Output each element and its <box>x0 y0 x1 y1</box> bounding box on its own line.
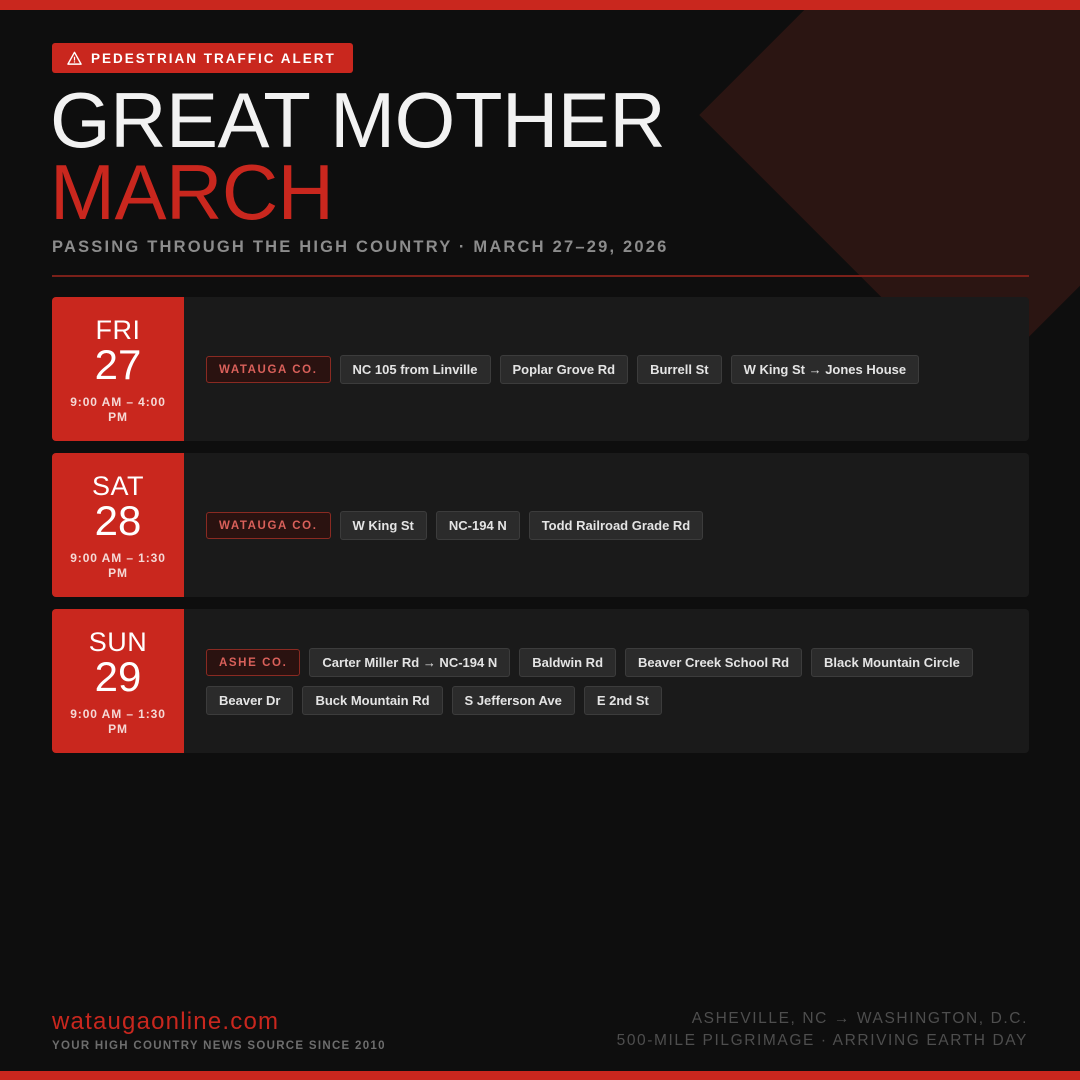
county-chip: ASHE CO. <box>206 649 300 676</box>
footer-route-line-1: ASHEVILLE, NC → WASHINGTON, D.C. <box>617 1008 1028 1030</box>
road-chip[interactable]: Buck Mountain Rd <box>302 686 442 715</box>
bottom-accent-bar <box>0 1071 1080 1080</box>
alert-badge: PEDESTRIAN TRAFFIC ALERT <box>52 43 353 73</box>
date-time-range: 9:00 AM – 1:30 PM <box>62 707 174 737</box>
road-chip[interactable]: W King St <box>340 511 427 540</box>
day-card: SUN299:00 AM – 1:30 PMASHE CO.Carter Mil… <box>52 609 1029 753</box>
road-chip[interactable]: NC-194 N <box>436 511 520 540</box>
date-cell: SAT289:00 AM – 1:30 PM <box>52 453 184 597</box>
county-chip: WATAUGA CO. <box>206 512 331 539</box>
road-chip[interactable]: Burrell St <box>637 355 722 384</box>
footer: wataugaonline.com YOUR HIGH COUNTRY NEWS… <box>52 1008 1028 1052</box>
header-divider <box>52 275 1029 277</box>
date-day-number: 29 <box>95 655 142 699</box>
road-chip[interactable]: Poplar Grove Rd <box>500 355 629 384</box>
footer-route-info: ASHEVILLE, NC → WASHINGTON, D.C. 500-MIL… <box>617 1008 1028 1052</box>
page-title-line-1: GREAT MOTHER <box>50 84 665 156</box>
date-time-range: 9:00 AM – 4:00 PM <box>62 395 174 425</box>
date-cell: SUN299:00 AM – 1:30 PM <box>52 609 184 753</box>
warning-triangle-icon <box>67 51 82 66</box>
page-title: GREAT MOTHER MARCH <box>50 84 665 228</box>
county-chip: WATAUGA CO. <box>206 356 331 383</box>
road-chip[interactable]: W King St → Jones House <box>731 355 920 384</box>
alert-badge-label: PEDESTRIAN TRAFFIC ALERT <box>91 51 336 66</box>
route-chip-list: WATAUGA CO.W King StNC-194 NTodd Railroa… <box>184 453 1029 597</box>
route-chip-list: WATAUGA CO.NC 105 from LinvillePoplar Gr… <box>184 297 1029 441</box>
road-chip[interactable]: Beaver Dr <box>206 686 293 715</box>
road-chip[interactable]: Black Mountain Circle <box>811 648 973 677</box>
footer-tagline: YOUR HIGH COUNTRY NEWS SOURCE SINCE 2010 <box>52 1040 386 1052</box>
date-day-number: 28 <box>95 499 142 543</box>
road-chip[interactable]: Carter Miller Rd → NC-194 N <box>309 648 510 677</box>
date-day-number: 27 <box>95 343 142 387</box>
date-cell: FRI279:00 AM – 4:00 PM <box>52 297 184 441</box>
road-chip[interactable]: NC 105 from Linville <box>340 355 491 384</box>
road-chip[interactable]: S Jefferson Ave <box>452 686 575 715</box>
top-accent-bar <box>0 0 1080 10</box>
road-chip[interactable]: Beaver Creek School Rd <box>625 648 802 677</box>
page-subtitle: PASSING THROUGH THE HIGH COUNTRY · MARCH… <box>52 238 669 257</box>
day-card: SAT289:00 AM – 1:30 PMWATAUGA CO.W King … <box>52 453 1029 597</box>
page-title-line-2: MARCH <box>50 156 665 228</box>
schedule-list: FRI279:00 AM – 4:00 PMWATAUGA CO.NC 105 … <box>52 297 1029 765</box>
footer-site-link[interactable]: wataugaonline.com <box>52 1008 386 1036</box>
date-time-range: 9:00 AM – 1:30 PM <box>62 551 174 581</box>
poster-stage: PEDESTRIAN TRAFFIC ALERT GREAT MOTHER MA… <box>0 0 1080 1080</box>
road-chip[interactable]: Baldwin Rd <box>519 648 616 677</box>
day-card: FRI279:00 AM – 4:00 PMWATAUGA CO.NC 105 … <box>52 297 1029 441</box>
route-chip-list: ASHE CO.Carter Miller Rd → NC-194 NBaldw… <box>184 609 1029 753</box>
footer-brand: wataugaonline.com YOUR HIGH COUNTRY NEWS… <box>52 1008 386 1052</box>
road-chip[interactable]: Todd Railroad Grade Rd <box>529 511 704 540</box>
footer-route-line-2: 500-MILE PILGRIMAGE · ARRIVING EARTH DAY <box>617 1030 1028 1052</box>
road-chip[interactable]: E 2nd St <box>584 686 662 715</box>
